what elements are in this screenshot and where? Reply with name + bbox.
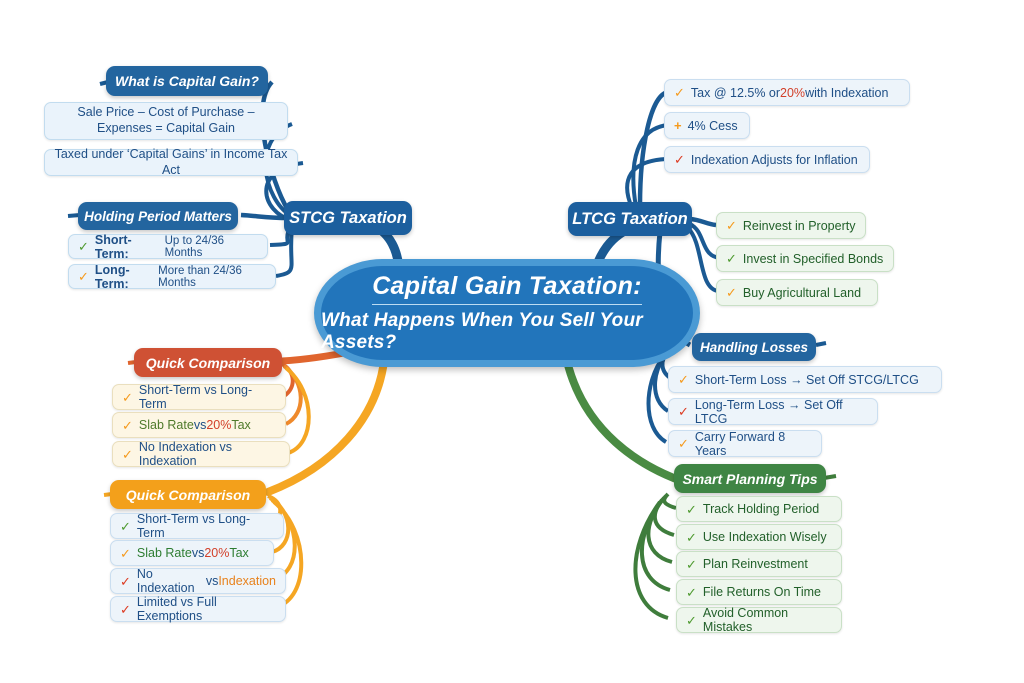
check-icon: ✓ [674, 86, 685, 99]
node-ltcg-taxation[interactable]: LTCG Taxation [568, 202, 692, 236]
leaf-long-term-period[interactable]: ✓ Long-Term: More than 24/36 Months [68, 264, 276, 289]
leaf-no-indexation-red[interactable]: ✓ No Indexation vs Indexation [112, 441, 290, 467]
leaf-text: Short-Term Loss → Set Off STCG/LTCG [695, 373, 919, 387]
leaf-text: Limited vs Full Exemptions [137, 595, 276, 623]
node-label: Holding Period Matters [84, 209, 232, 224]
leaf-text: Taxed under ‘Capital Gains’ in Income Ta… [53, 147, 289, 178]
leaf-text-highlight: 20% [780, 86, 805, 100]
leaf-text: Track Holding Period [703, 502, 819, 516]
central-title-line2: What Happens When You Sell Your Assets? [321, 310, 693, 354]
check-icon: ✓ [122, 448, 133, 461]
leaf-text-post: with Indexation [805, 86, 888, 100]
leaf-text: Carry Forward 8 Years [695, 430, 812, 458]
leaf-file-returns-on-time[interactable]: ✓ File Returns On Time [676, 579, 842, 605]
leaf-reinvest-in-property[interactable]: ✓ Reinvest in Property [716, 212, 866, 239]
leaf-text: More than 24/36 Months [158, 265, 266, 289]
leaf-plan-reinvestment[interactable]: ✓ Plan Reinvestment [676, 551, 842, 577]
node-holding-period-matters[interactable]: Holding Period Matters [78, 202, 238, 230]
leaf-text: Invest in Specified Bonds [743, 252, 883, 266]
leaf-long-term-loss[interactable]: ✓ Long-Term Loss → Set Off LTCG [668, 398, 878, 425]
leaf-text: File Returns On Time [703, 585, 821, 599]
node-smart-planning-tips[interactable]: Smart Planning Tips [674, 464, 826, 493]
leaf-strong: Short-Term: [95, 233, 161, 261]
leaf-text: 4% Cess [688, 119, 738, 133]
leaf-text: Sale Price – Cost of Purchase – Expenses… [53, 105, 279, 136]
leaf-tax-rate-indexation[interactable]: ✓ Tax @ 12.5% or 20% with Indexation [664, 79, 910, 106]
leaf-text: Use Indexation Wisely [703, 530, 827, 544]
leaf-short-term-loss[interactable]: ✓ Short-Term Loss → Set Off STCG/LTCG [668, 366, 942, 393]
node-quick-comparison-red[interactable]: Quick Comparison [134, 348, 282, 377]
leaf-short-vs-long-orange[interactable]: ✓ Short-Term vs Long-Term [110, 513, 284, 539]
leaf-cess[interactable]: + 4% Cess [664, 112, 750, 139]
check-icon: ✓ [120, 575, 131, 588]
leaf-slab-vs-20-red[interactable]: ✓ Slab Rate vs 20% Tax [112, 412, 286, 438]
leaf-text-pre: Slab Rate [137, 546, 192, 560]
node-label: Quick Comparison [126, 487, 250, 503]
leaf-invest-in-specified-bonds[interactable]: ✓ Invest in Specified Bonds [716, 245, 894, 272]
plus-icon: + [674, 119, 682, 132]
check-icon: ✓ [686, 503, 697, 516]
leaf-text: Indexation Adjusts for Inflation [691, 153, 858, 167]
leaf-text: Reinvest in Property [743, 219, 856, 233]
check-icon: ✓ [726, 219, 737, 232]
check-icon: ✓ [678, 437, 689, 450]
leaf-text: Short-Term vs Long-Term [137, 512, 274, 540]
check-icon: ✓ [122, 419, 133, 432]
leaf-taxed-under-capital-gains[interactable]: Taxed under ‘Capital Gains’ in Income Ta… [44, 149, 298, 176]
check-icon: ✓ [120, 603, 131, 616]
leaf-short-vs-long-red[interactable]: ✓ Short-Term vs Long-Term [112, 384, 286, 410]
node-label: What is Capital Gain? [115, 73, 259, 89]
check-icon: ✓ [120, 547, 131, 560]
leaf-text-mid: vs [194, 418, 207, 432]
check-icon: ✓ [78, 270, 89, 283]
leaf-text: No Indexation vs Indexation [139, 440, 280, 468]
check-icon: ✓ [686, 614, 697, 627]
check-icon: ✓ [686, 558, 697, 571]
leaf-use-indexation-wisely[interactable]: ✓ Use Indexation Wisely [676, 524, 842, 550]
leaf-text-highlight: Indexation [218, 574, 276, 588]
leaf-text: Long-Term Loss → Set Off LTCG [695, 398, 868, 426]
leaf-text: Short-Term vs Long-Term [139, 383, 276, 411]
leaf-text-highlight: 20% [204, 546, 229, 560]
leaf-strong: Long-Term: [95, 263, 154, 291]
leaf-text-mid: vs [206, 574, 219, 588]
leaf-text: Buy Agricultural Land [743, 286, 861, 300]
leaf-no-indexation-orange[interactable]: ✓ No Indexation vs Indexation [110, 568, 286, 594]
check-icon: ✓ [726, 286, 737, 299]
check-icon: ✓ [678, 373, 689, 386]
leaf-slab-vs-20-orange[interactable]: ✓ Slab Rate vs 20% Tax [110, 540, 274, 566]
node-handling-losses[interactable]: Handling Losses [692, 333, 816, 361]
node-label: Quick Comparison [146, 355, 270, 371]
leaf-indexation-inflation[interactable]: ✓ Indexation Adjusts for Inflation [664, 146, 870, 173]
check-icon: ✓ [686, 586, 697, 599]
leaf-text-post: Tax [231, 418, 250, 432]
leaf-text-pre: No Indexation [137, 567, 206, 595]
check-icon: ✓ [120, 520, 131, 533]
check-icon: ✓ [674, 153, 685, 166]
leaf-text-post: Tax [229, 546, 248, 560]
leaf-text-highlight: 20% [206, 418, 231, 432]
node-label: Handling Losses [700, 340, 808, 355]
leaf-text: Up to 24/36 Months [165, 235, 258, 259]
node-stcg-taxation[interactable]: STCG Taxation [284, 201, 412, 235]
node-what-is-capital-gain[interactable]: What is Capital Gain? [106, 66, 268, 96]
leaf-text-pre: Tax @ 12.5% or [691, 86, 780, 100]
node-label: LTCG Taxation [572, 210, 688, 229]
check-icon: ✓ [678, 405, 689, 418]
leaf-text-mid: vs [192, 546, 205, 560]
mindmap-canvas: Capital Gain Taxation: What Happens When… [0, 0, 1024, 683]
leaf-text: Plan Reinvestment [703, 557, 808, 571]
node-quick-comparison-orange[interactable]: Quick Comparison [110, 480, 266, 509]
leaf-carry-forward[interactable]: ✓ Carry Forward 8 Years [668, 430, 822, 457]
node-label: STCG Taxation [289, 209, 407, 228]
central-topic[interactable]: Capital Gain Taxation: What Happens When… [314, 259, 700, 367]
leaf-short-term-period[interactable]: ✓ Short-Term: Up to 24/36 Months [68, 234, 268, 259]
leaf-track-holding-period[interactable]: ✓ Track Holding Period [676, 496, 842, 522]
check-icon: ✓ [726, 252, 737, 265]
leaf-avoid-common-mistakes[interactable]: ✓ Avoid Common Mistakes [676, 607, 842, 633]
leaf-capital-gain-formula[interactable]: Sale Price – Cost of Purchase – Expenses… [44, 102, 288, 140]
leaf-text-pre: Slab Rate [139, 418, 194, 432]
leaf-limited-vs-full-exemptions[interactable]: ✓ Limited vs Full Exemptions [110, 596, 286, 622]
check-icon: ✓ [122, 391, 133, 404]
leaf-text: Avoid Common Mistakes [703, 606, 832, 634]
check-icon: ✓ [686, 531, 697, 544]
central-title-line1: Capital Gain Taxation: [372, 272, 642, 305]
node-label: Smart Planning Tips [682, 471, 817, 487]
leaf-buy-agricultural-land[interactable]: ✓ Buy Agricultural Land [716, 279, 878, 306]
check-icon: ✓ [78, 240, 89, 253]
